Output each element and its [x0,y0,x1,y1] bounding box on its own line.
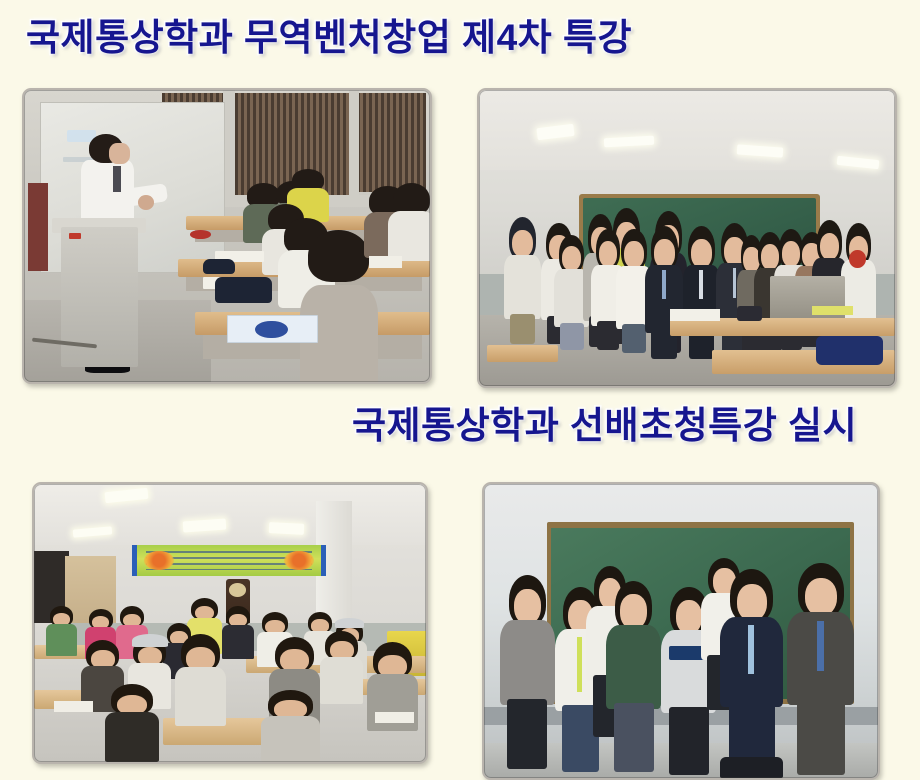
photo-audience[interactable] [32,482,428,764]
photo-classroom-lecture[interactable] [22,88,432,384]
audience-person-14 [320,631,363,703]
student-8 [393,183,430,259]
window-mullion-2 [349,90,359,201]
ceiling-light-3 [269,522,305,535]
lecturer-face [109,143,129,165]
photo-large-group-scene [479,90,895,386]
backpack-1 [215,277,272,303]
lecturer-tie [113,166,121,192]
podium [61,227,138,367]
banner-flower-left [144,551,173,570]
photo-small-group-scene [484,484,878,778]
paper-3 [369,256,401,268]
lecturer-hand [138,195,154,210]
audience-person-1 [46,606,77,656]
small-group-person-8-suit [787,563,854,775]
group-person-1 [504,217,541,341]
group-person-9-suit [645,226,682,356]
cap-icon [132,634,168,647]
page-title-senior-lecture: 국제통상학과 선배초청특강 실시 [352,404,857,448]
book-on-desk [812,306,854,315]
banner-flower-right [284,551,313,570]
book-cover-emblem [255,321,287,339]
audience-person-17 [261,690,320,762]
photo-classroom-lecture-scene [24,90,430,382]
photo-audience-scene [34,484,426,762]
backpack [816,336,883,366]
clock-face [229,583,246,596]
paper-on-desk-2 [375,712,414,723]
small-group-person-7-suit [720,569,783,775]
bag-on-floor [720,757,783,778]
window-blinds-right [357,93,426,192]
desk-left [487,345,558,363]
bag-small [737,306,762,321]
recycling-bin-1 [770,276,812,320]
small-group-person-1 [500,575,555,769]
audience-person-12 [175,634,226,726]
photo-small-group[interactable] [482,482,880,780]
student-6-foreground [308,230,369,382]
group-person-10-suit [683,226,720,356]
audience-person-16 [105,684,160,762]
small-group-person-4 [606,581,661,772]
red-wall-panel [28,183,48,271]
red-object [190,230,210,239]
heart-shirt-graphic [849,250,866,268]
photo-large-group[interactable] [477,88,897,388]
audience-person-5 [222,606,253,659]
shirt-graphic-smile [669,646,704,661]
cap-icon [335,618,365,629]
event-banner [132,545,326,576]
pouch [203,259,235,274]
paper-on-desk [54,701,93,712]
papers-on-desk [670,309,720,321]
podium-indicator-light [69,233,81,239]
page-title-lecture-series: 국제통상학과 무역벤처창업 제4차 특강 [26,16,632,60]
page-root: 국제통상학과 무역벤처창업 제4차 특강 [0,0,920,780]
